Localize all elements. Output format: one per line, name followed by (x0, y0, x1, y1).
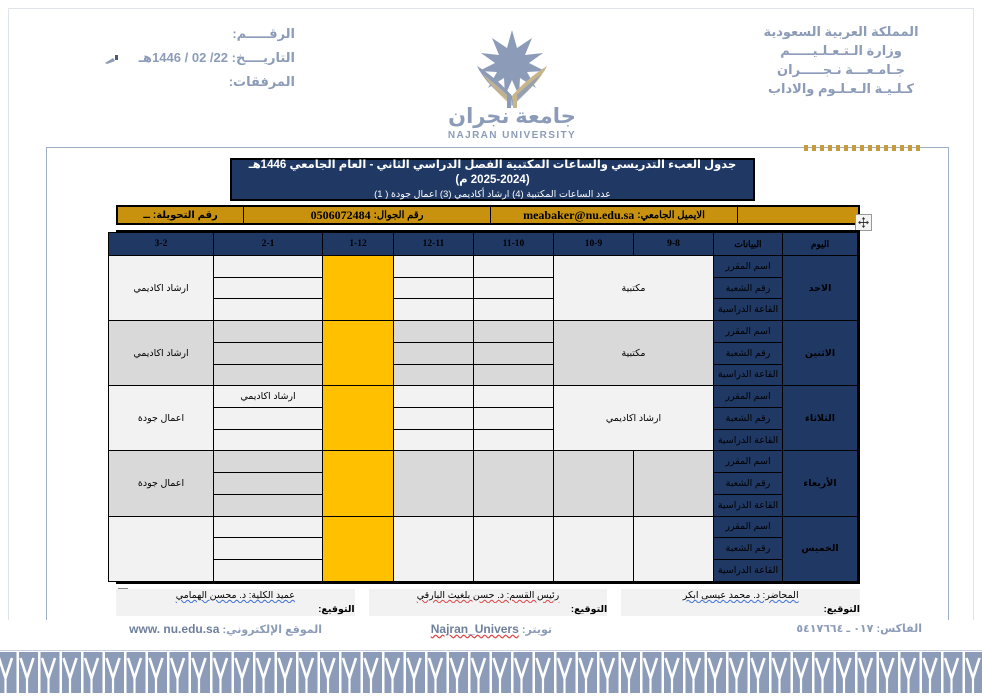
header-data: البيانات (714, 233, 783, 256)
content-frame-right-edge (948, 147, 949, 620)
slot-121-row1[interactable] (323, 321, 394, 386)
slot-21-row2-l2[interactable] (214, 429, 323, 451)
signature-block-lecturer: المحاضر: د. محمد عيسى ابكر التوقيع: (621, 589, 860, 617)
slot-1011-row1-l0[interactable] (474, 321, 554, 343)
move-arrows-icon (858, 217, 869, 228)
slot-21-row0-l0[interactable] (214, 256, 323, 278)
slot-1011-row2-l1[interactable] (474, 408, 554, 430)
footer-fax-value: ٠١٧ ـ ٥٤١٧٦٦٤ (796, 623, 873, 635)
letterhead-number: الرقـــــم: (95, 22, 295, 46)
logo-english-text: NAJRAN UNIVERSITY (437, 130, 587, 141)
signature-label-lecturer: التوقيع: (621, 603, 860, 616)
schedule-table-head: اليوم البيانات 9-8 10-9 11-10 12-11 1-12… (109, 233, 858, 256)
data-label-course-1: اسم المقرر (714, 321, 783, 343)
day-cell-3: الأربعاء (783, 451, 858, 516)
signature-name-lecturer: المحاضر: د. محمد عيسى ابكر (621, 589, 860, 603)
letterhead-university: جـامـعـــة نـجـــــران (706, 60, 976, 79)
schedule-table-body: الاحد اسم المقرر مكتبية ارشاد اكاديمي رق… (109, 256, 858, 582)
data-label-section-1: رقم الشعبة (714, 342, 783, 364)
letterhead-ministry: وزارة الـتـعـلـيـــــم (706, 41, 976, 60)
document-page: المملكة العربية السعودية وزارة الـتـعـلـ… (0, 0, 982, 697)
decorative-dashed-rule (800, 145, 920, 152)
slot-1011-row0-l2[interactable] (474, 299, 554, 321)
footer-divider (0, 650, 982, 651)
schedule-header-row: اليوم البيانات 9-8 10-9 11-10 12-11 1-12… (109, 233, 858, 256)
slot-1112-row0-l1[interactable] (394, 277, 474, 299)
slot-121-row4[interactable] (323, 516, 394, 581)
data-label-section-4: رقم الشعبة (714, 538, 783, 560)
schedule-title-secondary: عدد الساعات المكتبية (4) ارشاد أكاديمي (… (232, 188, 753, 202)
table-row[interactable]: القاعة الدراسية (109, 429, 858, 451)
data-label-course-0: اسم المقرر (714, 256, 783, 278)
slot-21-row1-l2[interactable] (214, 364, 323, 386)
day-cell-1: الاثنين (783, 321, 858, 386)
letterhead-reference-block: الرقـــــم: التاريــــخ: 22/ 02 / 1446هـ… (95, 22, 295, 94)
schedule-table-container[interactable]: اليوم البيانات 9-8 10-9 11-10 12-11 1-12… (116, 230, 860, 584)
data-label-hall-0: القاعة الدراسية (714, 299, 783, 321)
day-cell-2: الثلاثاء (783, 386, 858, 451)
slot-32-row2[interactable]: اعمال جودة (109, 386, 214, 451)
footer-website-value[interactable]: www. nu.edu.sa (129, 622, 219, 636)
signature-spacer-2 (355, 589, 369, 617)
letterhead-attachments: المرفقات: (95, 70, 295, 94)
contact-email-cell[interactable]: الايميل الجامعي: meabaker@nu.edu.sa (490, 207, 737, 223)
schedule-title-banner: جدول العبء التدريسي والساعات المكتبية ال… (230, 158, 755, 201)
slot-89-row4[interactable] (634, 516, 714, 581)
slot-1112-row4[interactable] (394, 516, 474, 581)
letterhead: المملكة العربية السعودية وزارة الـتـعـلـ… (0, 0, 982, 148)
slot-21-row3-l1[interactable] (214, 473, 323, 495)
contact-mobile-label: رقم الجوال: (374, 210, 424, 221)
contact-blank-cell (737, 207, 858, 223)
signature-block-dean: عميد الكلية: د. محسن الهمامي التوقيع: (116, 589, 355, 617)
slot-1011-row2-l0[interactable] (474, 386, 554, 408)
slot-1112-row0-l0[interactable] (394, 256, 474, 278)
header-slot-1-2: 2-1 (214, 233, 323, 256)
footer-website[interactable]: الموقع الإلكتروني: www. nu.edu.sa (129, 622, 322, 636)
slot-1011-row3[interactable] (474, 451, 554, 516)
slot-21-row1-l1[interactable] (214, 342, 323, 364)
header-day: اليوم (783, 233, 858, 256)
header-slot-12-1: 1-12 (323, 233, 394, 256)
contact-bar: الايميل الجامعي: meabaker@nu.edu.sa رقم … (116, 205, 860, 225)
slot-merged-89-910-row1[interactable]: مكتبية (554, 321, 714, 386)
contact-email-label: الايميل الجامعي: (637, 210, 705, 221)
table-row[interactable]: الاثنين اسم المقرر مكتبية ارشاد اكاديمي (109, 321, 858, 343)
slot-1011-row2-l2[interactable] (474, 429, 554, 451)
slot-1112-row1-l0[interactable] (394, 321, 474, 343)
table-row[interactable]: رقم الشعبة (109, 277, 858, 299)
table-row[interactable]: رقم الشعبة (109, 342, 858, 364)
day-cell-0: الاحد (783, 256, 858, 321)
letterhead-kingdom: المملكة العربية السعودية (706, 22, 976, 41)
slot-21-row3-l0[interactable] (214, 451, 323, 473)
letterhead-date: التاريــــخ: 22/ 02 / 1446هـ (95, 46, 295, 70)
slot-21-row0-l2[interactable] (214, 299, 323, 321)
page-footer: الفاكس: ٠١٧ ـ ٥٤١٧٦٦٤ تويتر: Najran_Univ… (0, 622, 982, 648)
decorative-footer-band (0, 652, 982, 697)
signature-label-head: التوقيع: (369, 603, 608, 616)
table-row[interactable]: القاعة الدراسية (109, 299, 858, 321)
data-label-hall-1: القاعة الدراسية (714, 364, 783, 386)
slot-32-row3[interactable]: اعمال جودة (109, 451, 214, 516)
slot-1112-row0-l2[interactable] (394, 299, 474, 321)
signature-name-head: رئيس القسم: د. حسن بلغيث البارقي (369, 589, 608, 603)
slot-121-row3[interactable] (323, 451, 394, 516)
data-label-section-3: رقم الشعبة (714, 473, 783, 495)
slot-89-row3[interactable] (634, 451, 714, 516)
data-label-hall-2: القاعة الدراسية (714, 429, 783, 451)
slot-32-row0[interactable]: ارشاد اكاديمي (109, 256, 214, 321)
slot-21-row4-l2[interactable] (214, 560, 323, 582)
data-label-section-0: رقم الشعبة (714, 277, 783, 299)
table-row[interactable]: الخميس اسم المقرر (109, 516, 858, 538)
signature-spacer-1 (607, 589, 621, 617)
slot-merged-89-910-row0[interactable]: مكتبية (554, 256, 714, 321)
slot-1011-row1-l2[interactable] (474, 364, 554, 386)
table-row[interactable]: الاحد اسم المقرر مكتبية ارشاد اكاديمي (109, 256, 858, 278)
table-row[interactable]: رقم الشعبة (109, 408, 858, 430)
schedule-table: اليوم البيانات 9-8 10-9 11-10 12-11 1-12… (108, 232, 858, 582)
contact-mobile-cell[interactable]: رقم الجوال: 0506072484 (243, 207, 490, 223)
header-slot-11-12: 12-11 (394, 233, 474, 256)
data-label-course-4: اسم المقرر (714, 516, 783, 538)
header-slot-10-11: 11-10 (474, 233, 554, 256)
slot-21-row0-l1[interactable] (214, 277, 323, 299)
header-slot-8-9: 9-8 (634, 233, 714, 256)
data-label-section-2: رقم الشعبة (714, 408, 783, 430)
footer-website-label: الموقع الإلكتروني: (222, 624, 322, 636)
slot-21-row3-l2[interactable] (214, 494, 323, 516)
signature-label-dean: التوقيع: (116, 603, 355, 616)
table-row[interactable]: الأربعاء اسم المقرر اعمال جودة (109, 451, 858, 473)
data-label-hall-3: القاعة الدراسية (714, 494, 783, 516)
chevron-pattern-icon (0, 652, 982, 697)
band-bottom-edge (0, 693, 982, 697)
slot-21-row2-l0[interactable]: ارشاد اكاديمي (214, 386, 323, 408)
najran-university-logo: جامعة نجران NAJRAN UNIVERSITY (437, 22, 587, 142)
slot-21-row2-l1[interactable] (214, 408, 323, 430)
slot-1112-row1-l1[interactable] (394, 342, 474, 364)
table-row[interactable]: الثلاثاء اسم المقرر ارشاد اكاديمي ارشاد … (109, 386, 858, 408)
footer-twitter-value[interactable]: Najran_Univers (431, 622, 519, 636)
cursor-icon (105, 55, 119, 65)
header-slot-9-10: 10-9 (554, 233, 634, 256)
signature-block-head: رئيس القسم: د. حسن بلغيث البارقي التوقيع… (369, 589, 608, 617)
data-label-course-3: اسم المقرر (714, 451, 783, 473)
contact-mobile-value: 0506072484 (311, 208, 371, 223)
contact-email-value: meabaker@nu.edu.sa (523, 208, 634, 223)
slot-121-row2[interactable] (323, 386, 394, 451)
slot-1011-row4[interactable] (474, 516, 554, 581)
slot-21-row1-l0[interactable] (214, 321, 323, 343)
letterhead-institution-block: المملكة العربية السعودية وزارة الـتـعـلـ… (706, 22, 976, 98)
table-row[interactable]: القاعة الدراسية (109, 364, 858, 386)
slot-21-row4-l0[interactable] (214, 516, 323, 538)
contact-extension-cell[interactable]: رقم التحويلة: ــ (118, 207, 243, 223)
slot-21-row4-l1[interactable] (214, 538, 323, 560)
footer-twitter-label: تويتر: (522, 624, 552, 636)
slot-1011-row1-l1[interactable] (474, 342, 554, 364)
move-handle-icon[interactable] (855, 214, 872, 231)
letterhead-college: كـلـيـة الـعـلـوم والاداب (706, 79, 976, 98)
data-label-course-2: اسم المقرر (714, 386, 783, 408)
slot-1112-row2-l0[interactable] (394, 386, 474, 408)
footer-fax: الفاكس: ٠١٧ ـ ٥٤١٧٦٦٤ (796, 622, 922, 635)
slot-1011-row0-l1[interactable] (474, 277, 554, 299)
header-slot-2-3: 3-2 (109, 233, 214, 256)
data-label-hall-4: القاعة الدراسية (714, 560, 783, 582)
slot-merged-89-910-row2[interactable]: ارشاد اكاديمي (554, 386, 714, 451)
day-cell-4: الخميس (783, 516, 858, 581)
slot-1112-row3[interactable] (394, 451, 474, 516)
schedule-title-primary: جدول العبء التدريسي والساعات المكتبية ال… (232, 158, 753, 188)
slot-121-row0[interactable] (323, 256, 394, 321)
slot-1011-row0-l0[interactable] (474, 256, 554, 278)
slot-910-row4[interactable] (554, 516, 634, 581)
signature-row: المحاضر: د. محمد عيسى ابكر التوقيع: رئيس… (116, 589, 860, 617)
footer-fax-label: الفاكس: (876, 623, 922, 635)
slot-1112-row2-l1[interactable] (394, 408, 474, 430)
slot-1112-row2-l2[interactable] (394, 429, 474, 451)
slot-1112-row1-l2[interactable] (394, 364, 474, 386)
logo-arabic-text: جامعة نجران (437, 104, 587, 129)
slot-32-row4[interactable] (109, 516, 214, 581)
footer-twitter[interactable]: تويتر: Najran_Univers (431, 622, 552, 636)
text-cursor-artifact (105, 52, 119, 62)
signature-name-dean: عميد الكلية: د. محسن الهمامي (116, 589, 355, 603)
slot-32-row1[interactable]: ارشاد اكاديمي (109, 321, 214, 386)
slot-910-row3[interactable] (554, 451, 634, 516)
